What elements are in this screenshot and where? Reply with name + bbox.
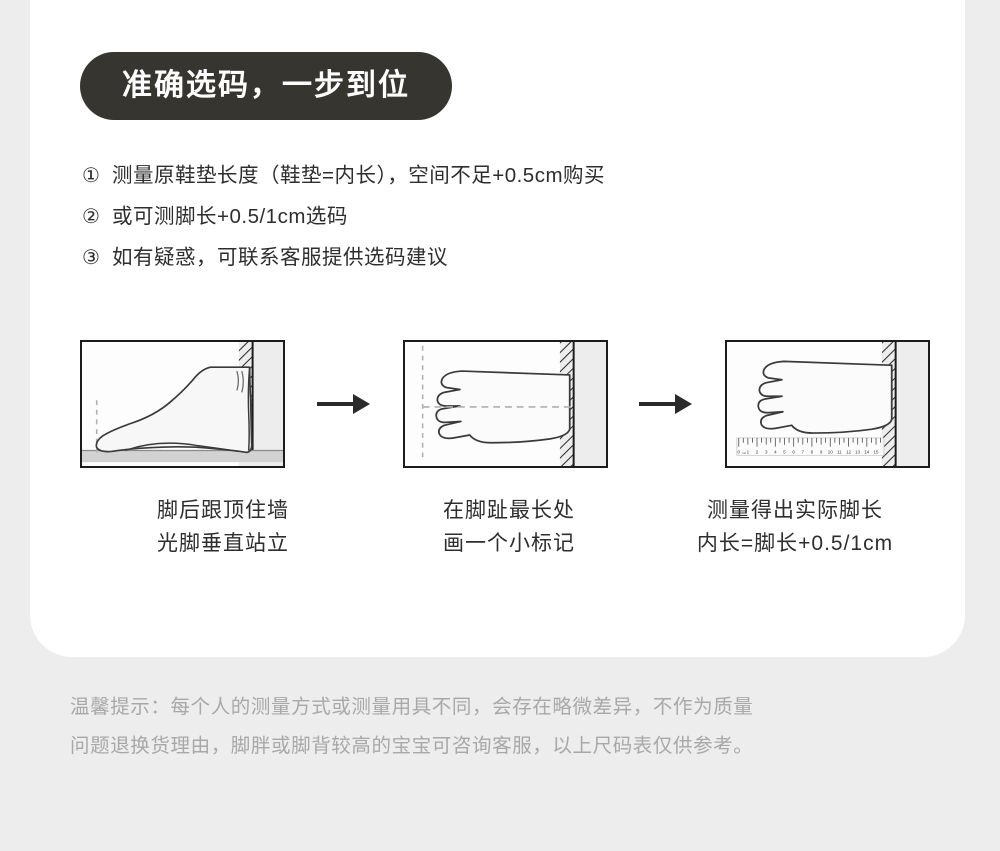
- section-title-banner: 准确选码，一步到位: [80, 52, 452, 120]
- svg-text:10: 10: [828, 449, 834, 454]
- list-item: ③ 如有疑惑，可联系客服提供选码建议: [82, 245, 722, 271]
- list-item-number: ③: [82, 246, 112, 271]
- svg-text:14: 14: [864, 449, 870, 454]
- caption-line-1: 测量得出实际脚长: [707, 499, 883, 522]
- measurement-steps-illustrations: 0 cm 1 2 3 4 5 6 7 8 9 10 11 12 13 14 15: [80, 340, 930, 468]
- caption-step-3: 测量得出实际脚长 内长=脚长+0.5/1cm: [652, 495, 938, 560]
- caption-line-2: 画一个小标记: [366, 528, 652, 561]
- svg-text:15: 15: [874, 449, 880, 454]
- list-item-number: ②: [82, 205, 112, 230]
- illustration-foot-top-view-mark: [403, 340, 608, 468]
- caption-step-1: 脚后跟顶住墙 光脚垂直站立: [80, 495, 366, 560]
- footer-note-line-2: 问题退换货理由，脚胖或脚背较高的宝宝可咨询客服，以上尺码表仅供参考。: [70, 727, 870, 766]
- svg-text:13: 13: [855, 449, 861, 454]
- instruction-list: ① 测量原鞋垫长度（鞋垫=内长），空间不足+0.5cm购买 ② 或可测脚长+0.…: [82, 163, 722, 286]
- caption-line-2: 内长=脚长+0.5/1cm: [652, 528, 938, 561]
- list-item: ② 或可测脚长+0.5/1cm选码: [82, 204, 722, 230]
- list-item-label: 测量原鞋垫长度（鞋垫=内长），空间不足+0.5cm购买: [112, 163, 605, 189]
- footer-note: 温馨提示：每个人的测量方式或测量用具不同，会存在略微差异，不作为质量 问题退换货…: [70, 688, 870, 766]
- list-item-label: 或可测脚长+0.5/1cm选码: [112, 204, 348, 230]
- svg-text:12: 12: [846, 449, 852, 454]
- arrow-icon: [285, 391, 403, 417]
- illustration-captions: 脚后跟顶住墙 光脚垂直站立 在脚趾最长处 画一个小标记 测量得出实际脚长 内长=…: [80, 495, 940, 560]
- caption-line-2: 光脚垂直站立: [80, 528, 366, 561]
- caption-line-1: 脚后跟顶住墙: [157, 499, 289, 522]
- caption-step-2: 在脚趾最长处 画一个小标记: [366, 495, 652, 560]
- caption-line-1: 在脚趾最长处: [443, 499, 575, 522]
- list-item: ① 测量原鞋垫长度（鞋垫=内长），空间不足+0.5cm购买: [82, 163, 722, 189]
- list-item-label: 如有疑惑，可联系客服提供选码建议: [112, 245, 448, 271]
- list-item-number: ①: [82, 164, 112, 189]
- footer-note-line-1: 温馨提示：每个人的测量方式或测量用具不同，会存在略微差异，不作为质量: [70, 688, 870, 727]
- page-title: 准确选码，一步到位: [122, 71, 410, 101]
- svg-text:11: 11: [837, 449, 842, 454]
- ruler: 0 cm 1 2 3 4 5 6 7 8 9 10 11 12 13 14 15: [737, 438, 884, 455]
- arrow-icon: [608, 391, 726, 417]
- illustration-foot-side-view: [80, 340, 285, 468]
- illustration-foot-top-view-ruler: 0 cm 1 2 3 4 5 6 7 8 9 10 11 12 13 14 15: [725, 340, 930, 468]
